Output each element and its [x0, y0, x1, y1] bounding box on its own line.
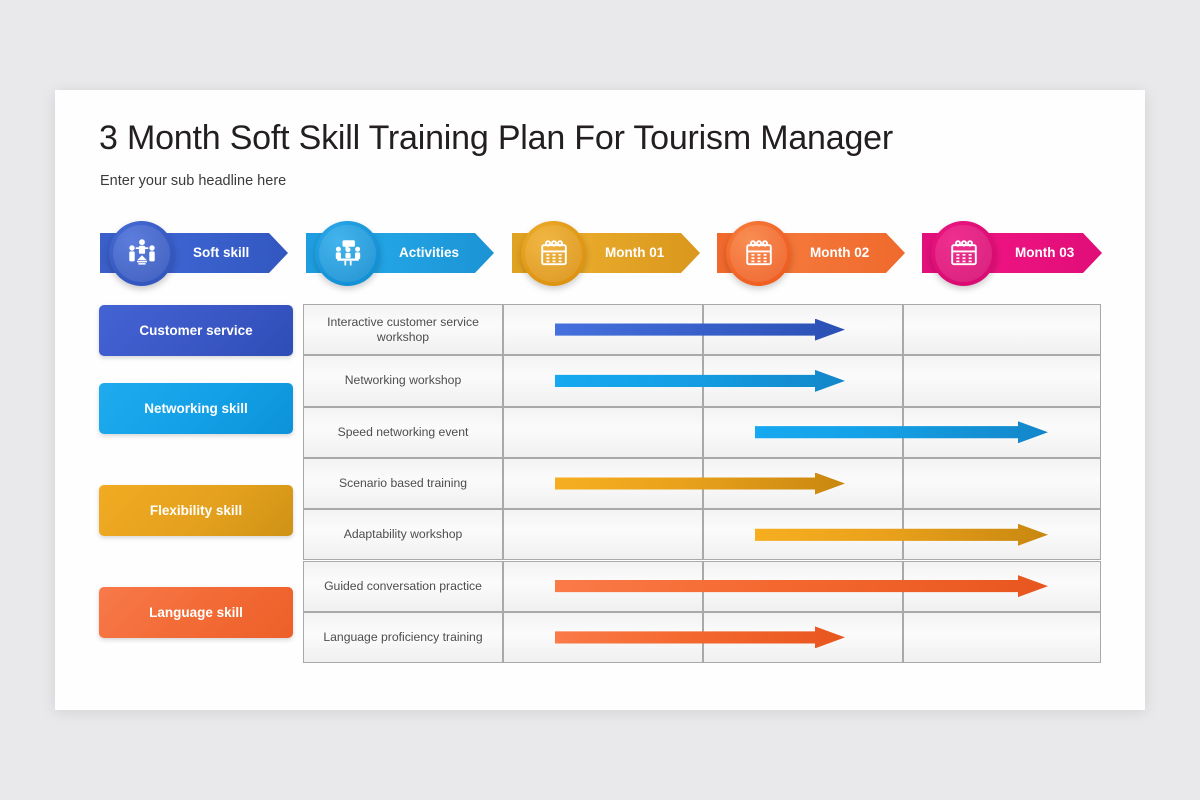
month-01-cell — [503, 407, 703, 458]
activity-label: Guided conversation practice — [324, 579, 482, 594]
activity-label: Language proficiency training — [323, 630, 482, 645]
header-label: Month 01 — [605, 233, 664, 273]
gantt-bar-interactive-customer-service-workshop[interactable] — [555, 319, 845, 341]
header-soft-skill[interactable]: Soft skill — [100, 233, 288, 273]
people-group-icon — [109, 221, 174, 286]
activity-cell: Language proficiency training — [303, 612, 503, 663]
skill-pill-label: Customer service — [139, 323, 252, 338]
skill-pill-networking-skill[interactable]: Networking skill — [99, 383, 293, 434]
activity-cell: Networking workshop — [303, 355, 503, 406]
month-01-cell — [503, 509, 703, 560]
gantt-bar-language-proficiency-training[interactable] — [555, 626, 845, 648]
gantt-bar-shape — [555, 473, 845, 495]
activity-cell: Scenario based training — [303, 458, 503, 509]
activity-label: Networking workshop — [345, 373, 462, 388]
header-activities[interactable]: Activities — [306, 233, 494, 273]
header-label: Month 03 — [1015, 233, 1074, 273]
header-month-01[interactable]: Month 01 — [512, 233, 700, 273]
skill-pill-language-skill[interactable]: Language skill — [99, 587, 293, 638]
header-month-02[interactable]: Month 02 — [717, 233, 905, 273]
activity-cell: Adaptability workshop — [303, 509, 503, 560]
activity-cell: Interactive customer service workshop — [303, 304, 503, 355]
activity-label: Adaptability workshop — [344, 527, 463, 542]
page-title: 3 Month Soft Skill Training Plan For Tou… — [99, 119, 893, 158]
gantt-bar-networking-workshop[interactable] — [555, 370, 845, 392]
calendar-icon — [521, 221, 586, 286]
activity-cell: Speed networking event — [303, 407, 503, 458]
gantt-bar-shape — [555, 319, 845, 341]
month-03-cell — [903, 612, 1101, 663]
meeting-table-icon — [315, 221, 380, 286]
header-month-03[interactable]: Month 03 — [922, 233, 1102, 273]
skill-pill-label: Flexibility skill — [150, 503, 242, 518]
month-03-cell — [903, 458, 1101, 509]
gantt-bar-shape — [555, 575, 1048, 597]
gantt-bar-adaptability-workshop[interactable] — [755, 524, 1048, 546]
skill-pill-flexibility-skill[interactable]: Flexibility skill — [99, 485, 293, 536]
header-label: Activities — [399, 233, 459, 273]
header-label: Month 02 — [810, 233, 869, 273]
skill-pill-label: Networking skill — [144, 401, 248, 416]
gantt-bar-guided-conversation-practice[interactable] — [555, 575, 1048, 597]
activity-label: Speed networking event — [338, 425, 469, 440]
gantt-table: Interactive customer service workshop Ne… — [303, 304, 1101, 663]
gantt-bar-shape — [555, 370, 845, 392]
gantt-bar-shape — [755, 524, 1048, 546]
activity-label: Interactive customer service workshop — [312, 315, 494, 345]
activity-cell: Guided conversation practice — [303, 561, 503, 612]
gantt-bar-shape — [555, 626, 845, 648]
gantt-bar-speed-networking-event[interactable] — [755, 421, 1048, 443]
skill-pill-label: Language skill — [149, 605, 243, 620]
page-subtitle: Enter your sub headline here — [100, 173, 286, 189]
month-03-cell — [903, 304, 1101, 355]
gantt-bar-scenario-based-training[interactable] — [555, 473, 845, 495]
month-03-cell — [903, 355, 1101, 406]
slide-canvas: 3 Month Soft Skill Training Plan For Tou… — [0, 0, 1200, 800]
skill-pill-customer-service[interactable]: Customer service — [99, 305, 293, 356]
calendar-icon — [931, 221, 996, 286]
calendar-icon — [726, 221, 791, 286]
activity-label: Scenario based training — [339, 476, 467, 491]
gantt-bar-shape — [755, 421, 1048, 443]
header-label: Soft skill — [193, 233, 249, 273]
